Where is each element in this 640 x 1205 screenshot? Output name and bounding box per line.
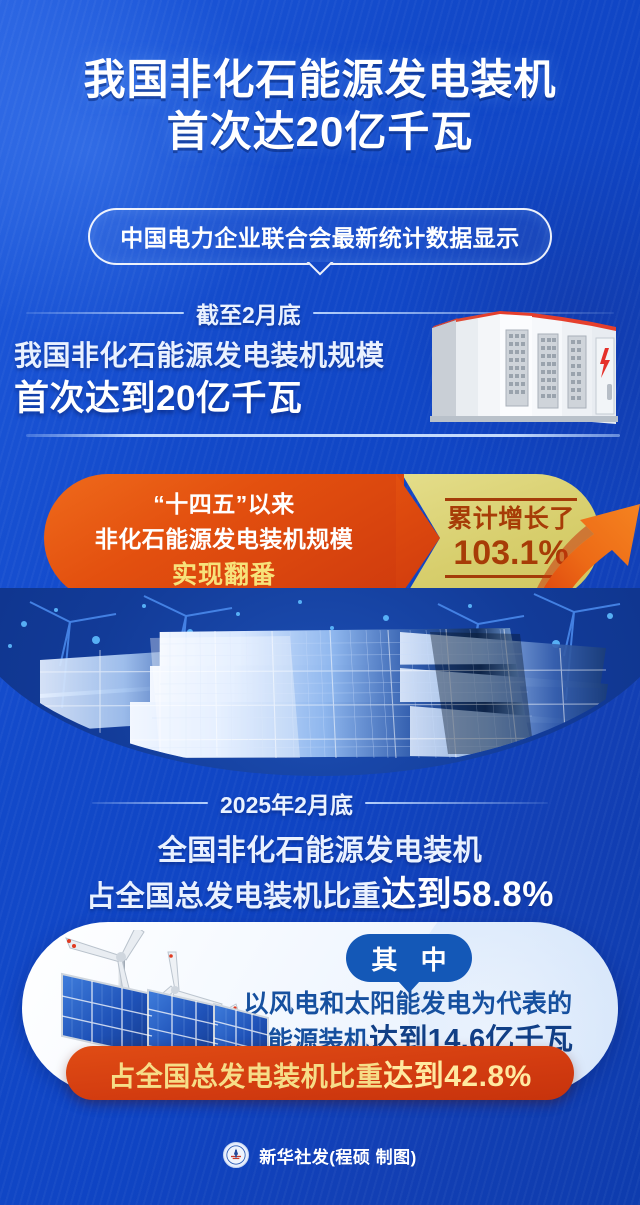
section-3-highlight: 达到58.8%	[381, 875, 554, 914]
section-3-body: 全国非化石能源发电装机 占全国总发电装机比重达到58.8%	[0, 830, 640, 920]
section-3: 2025年2月底 全国非化石能源发电装机 占全国总发电装机比重达到58.8%	[0, 786, 640, 920]
footer: 新华社发(程硕 制图)	[0, 1142, 640, 1168]
solar-panel-wind-farm-illustration	[0, 588, 640, 776]
among-which-badge: 其 中	[346, 934, 472, 982]
share-red-pill: 占全国总发电装机比重达到42.8%	[66, 1046, 574, 1100]
section-3-line-2: 占全国总发电装机比重达到58.8%	[0, 872, 640, 920]
footer-text: 新华社发(程硕 制图)	[259, 1143, 417, 1168]
xinhua-logo-icon	[223, 1142, 249, 1168]
subtitle-pill-wrapper: 中国电力企业联合会最新统计数据显示	[0, 208, 640, 265]
among-which-label: 其 中	[363, 940, 454, 977]
server-cabinets-icon	[426, 306, 618, 430]
section-3-header: 2025年2月底	[0, 786, 640, 820]
page-title: 我国非化石能源发电装机 首次达20亿千瓦	[0, 54, 640, 158]
subtitle-pill-label: 中国电力企业联合会最新统计数据显示	[120, 225, 520, 251]
section-3-rule-right	[365, 802, 548, 804]
section-1-header-label: 截至2月底	[196, 296, 301, 330]
banner-red-line-1: “十四五”以来	[153, 485, 295, 519]
section-3-rule-left	[92, 802, 208, 804]
banner-red-line-3: 实现翻番	[172, 555, 276, 591]
section-3-line-2-prefix: 占全国总发电装机比重	[86, 881, 381, 913]
infographic-poster: 我国非化石能源发电装机 首次达20亿千瓦 中国电力企业联合会最新统计数据显示 截…	[0, 0, 640, 1205]
growth-banner: “十四五”以来 非化石能源发电装机规模 实现翻番 累计增长了 103.1%	[44, 474, 600, 602]
section-3-line-1: 全国非化石能源发电装机	[0, 830, 640, 872]
title-line-1: 我国非化石能源发电装机	[0, 54, 640, 106]
title-line-2: 首次达20亿千瓦	[0, 106, 640, 158]
banner-red-line-2: 非化石能源发电装机规模	[95, 520, 354, 554]
section-3-header-label: 2025年2月底	[220, 786, 353, 820]
red-pill-highlight: 达到42.8%	[383, 1060, 532, 1093]
banner-red-text: “十四五”以来 非化石能源发电装机规模 实现翻番	[44, 474, 404, 602]
pill-pointer-icon	[305, 262, 335, 278]
red-pill-text: 占全国总发电装机比重达到42.8%	[108, 1051, 532, 1095]
red-pill-prefix: 占全国总发电装机比重	[108, 1062, 383, 1092]
header-rule-left	[26, 312, 184, 314]
section-1-bottom-rule	[26, 434, 620, 437]
subtitle-pill: 中国电力企业联合会最新统计数据显示	[88, 208, 552, 265]
scene-svg	[0, 588, 640, 776]
